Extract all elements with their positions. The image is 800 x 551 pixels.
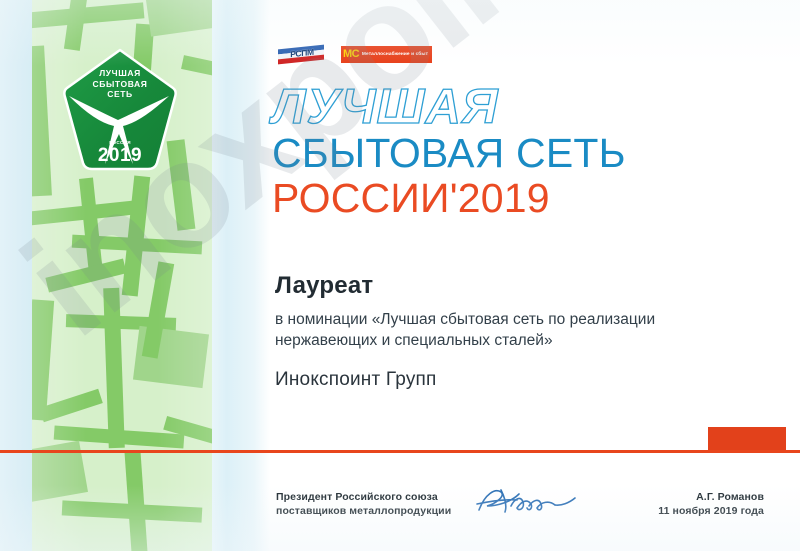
signature-date: 11 ноября 2019 года <box>658 504 764 518</box>
red-divider-rule <box>0 450 800 453</box>
signer-name: А.Г. Романов <box>658 490 764 504</box>
signer-details: А.Г. Романов 11 ноября 2019 года <box>658 490 764 518</box>
title-line-outline: ЛУЧШАЯ <box>272 82 752 132</box>
award-badge: ЛУЧШАЯ СБЫТОВАЯ СЕТЬ РОССИЯ 2019 <box>61 48 179 172</box>
badge-title-line2: СБЫТОВАЯ <box>61 79 179 90</box>
signer-title-line1: Президент Российского союза <box>276 490 451 504</box>
certificate-footer: Президент Российского союза поставщиков … <box>276 490 776 530</box>
title-line-red: РОССИИ'2019 <box>272 175 752 221</box>
badge-title-line3: СЕТЬ <box>61 89 179 100</box>
nomination-text: в номинации «Лучшая сбытовая сеть по реа… <box>275 309 745 351</box>
magazine-logo-name: Металлоснабжение и сбыт <box>362 52 428 57</box>
badge-year: 2019 <box>61 145 179 167</box>
red-accent-block <box>708 427 786 450</box>
certificate-body: Лауреат в номинации «Лучшая сбытовая сет… <box>275 272 745 391</box>
magazine-logo-mark: МС <box>343 49 359 60</box>
signer-title: Президент Российского союза поставщиков … <box>276 490 451 518</box>
laureate-name: Инокспоинт Групп <box>275 369 745 391</box>
badge-title: ЛУЧШАЯ СБЫТОВАЯ СЕТЬ <box>61 68 179 100</box>
magazine-logo: МС Металлоснабжение и сбыт <box>341 46 432 63</box>
signer-title-line2: поставщиков металлопродукции <box>276 504 451 518</box>
title-line-blue: СБЫТОВАЯ СЕТЬ <box>272 130 752 176</box>
award-label: Лауреат <box>275 272 745 300</box>
certificate-page: ЛУЧШАЯ СБЫТОВАЯ СЕТЬ РОССИЯ 2019 РСПМ МС… <box>0 0 800 551</box>
certificate-title: ЛУЧШАЯ СБЫТОВАЯ СЕТЬ РОССИИ'2019 <box>272 82 752 221</box>
badge-title-line1: ЛУЧШАЯ <box>61 68 179 79</box>
rspm-logo: РСПМ <box>276 44 328 65</box>
header-logos: РСПМ МС Металлоснабжение и сбыт <box>276 42 432 66</box>
signature-icon <box>471 484 581 520</box>
